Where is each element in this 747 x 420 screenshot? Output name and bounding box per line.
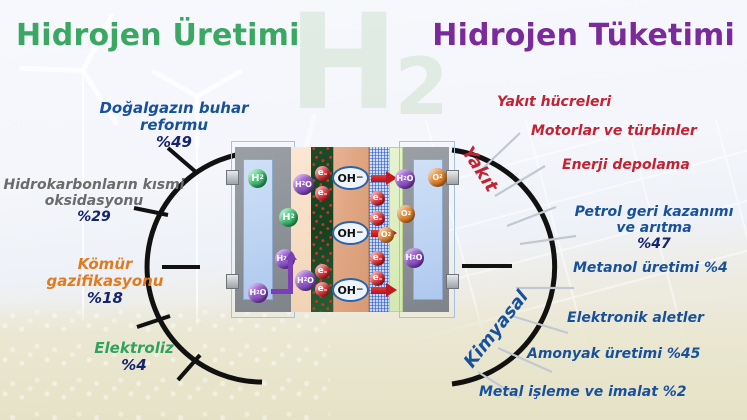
molecule-electron: e–: [370, 251, 385, 266]
molecule-electron: e–: [315, 166, 330, 181]
molecule-oxygen: O2: [378, 227, 394, 243]
molecule-water: H2O: [395, 169, 415, 189]
label-line2: gazifikasyonu: [46, 272, 163, 290]
anode-terminal-top: [446, 170, 459, 185]
molecule-water: H2O: [404, 248, 424, 268]
molecule-label: H: [277, 255, 284, 263]
molecule-electron: e–: [315, 282, 330, 297]
label-line1: Petrol geri kazanımı: [575, 204, 734, 220]
molecule-subscript: 2: [260, 175, 264, 181]
molecule-label: H: [251, 174, 259, 184]
molecule-subscript: 2: [291, 214, 295, 220]
label-percent: %47: [565, 237, 743, 253]
label-line2: oksidasyonu: [45, 193, 144, 209]
molecule-label-tail: O: [307, 277, 314, 285]
label-partial-oxidation: Hidrokarbonların kısmi oksidasyonu %29: [0, 178, 190, 226]
ion-label: OH: [337, 172, 356, 185]
label-engines-turbines: Motorlar ve türbinler: [531, 124, 697, 140]
ion-charge: −: [356, 173, 364, 183]
label-ammonia-production: Amonyak üretimi %45: [527, 347, 700, 363]
anode-terminal-bottom: [446, 274, 459, 289]
molecule-label: H: [282, 213, 290, 223]
molecule-label: H: [297, 277, 304, 285]
molecule-label: H: [250, 289, 257, 297]
molecule-hydrogen: H2: [248, 169, 267, 188]
molecule-electron: e–: [370, 271, 385, 286]
molecule-electron: e–: [315, 264, 330, 279]
molecule-label: H: [295, 181, 302, 189]
ion-charge: −: [356, 285, 364, 295]
molecule-superscript: –: [379, 195, 383, 203]
molecule-label-tail: O: [407, 175, 414, 183]
molecule-subscript: 2: [408, 212, 411, 217]
molecule-hydrogen: H2: [279, 208, 298, 227]
hydroxide-transport-top: OH−: [332, 166, 397, 190]
molecule-superscript: –: [324, 268, 328, 276]
transport-arrow-icon: [371, 172, 397, 184]
anode-housing: [399, 141, 455, 318]
label-line1: Kömür: [78, 255, 133, 273]
label-line2: ve arıtma: [616, 220, 691, 236]
molecule-label-tail: O: [305, 181, 312, 189]
molecule-label: H: [397, 175, 404, 183]
label-coal-gasification: Kömür gazifikasyonu %18: [22, 256, 188, 307]
label-percent: %29: [0, 210, 190, 226]
molecule-water: H2O: [293, 174, 314, 195]
molecule-label: O: [432, 174, 439, 182]
molecule-subscript: 2: [439, 175, 442, 180]
label-percent: %4: [64, 357, 204, 374]
label-line1: Hidrokarbonların kısmi: [4, 177, 185, 193]
infographic-canvas: H2 Hidrojen Üretimi Hidrojen Tüketimi: [0, 0, 747, 420]
molecule-label: O: [381, 231, 388, 239]
hydroxide-transport-bottom: OH−: [332, 278, 397, 302]
cathode-terminal-bottom: [226, 274, 239, 289]
label-metal-processing: Metal işleme ve imalat %2: [479, 385, 687, 401]
label-fuel-cells: Yakıt hücreleri: [497, 95, 611, 111]
molecule-electron: e–: [315, 186, 330, 201]
molecule-label: H: [406, 254, 413, 262]
molecule-superscript: –: [379, 215, 383, 223]
molecule-label-tail: O: [416, 254, 423, 262]
molecule-superscript: –: [324, 190, 328, 198]
molecule-label: O: [401, 210, 408, 218]
molecule-label-tail: O: [260, 289, 267, 297]
molecule-superscript: –: [379, 275, 383, 283]
molecule-superscript: –: [324, 286, 328, 294]
label-percent: %18: [22, 290, 188, 307]
label-electrolysis: Elektroliz %4: [64, 340, 204, 374]
molecule-water: H2O: [295, 270, 316, 291]
ion-charge: −: [356, 228, 364, 238]
molecule-superscript: –: [379, 255, 383, 263]
label-energy-storage: Enerji depolama: [562, 158, 690, 174]
label-electronic-devices: Elektronik aletler: [567, 311, 704, 327]
label-line1: Doğalgazın buhar: [99, 99, 248, 117]
hydroxide-ion-label: OH−: [332, 278, 369, 302]
molecule-superscript: –: [324, 170, 328, 178]
ion-label: OH: [337, 227, 356, 240]
electrolysis-cell-diagram: H2 H2 H2O H2O H2O e– e– H2O e–: [231, 147, 453, 312]
ion-label: OH: [337, 284, 356, 297]
molecule-oxygen: O2: [397, 205, 415, 223]
hydroxide-ion-label: OH−: [332, 166, 369, 190]
molecule-oxygen: O2: [428, 168, 447, 187]
molecule-subscript: 2: [388, 233, 391, 238]
hydroxide-ion-label: OH−: [332, 221, 369, 245]
molecule-electron: e–: [370, 211, 385, 226]
molecule-water: H2O: [248, 283, 268, 303]
label-oil-recovery-refining: Petrol geri kazanımı ve arıtma %47: [565, 205, 743, 253]
cathode-terminal-top: [226, 170, 239, 185]
label-line2: reformu: [140, 116, 208, 134]
label-methanol-production: Metanol üretimi %4: [573, 261, 728, 277]
label-line1: Elektroliz: [94, 339, 173, 357]
molecule-electron: e–: [370, 191, 385, 206]
